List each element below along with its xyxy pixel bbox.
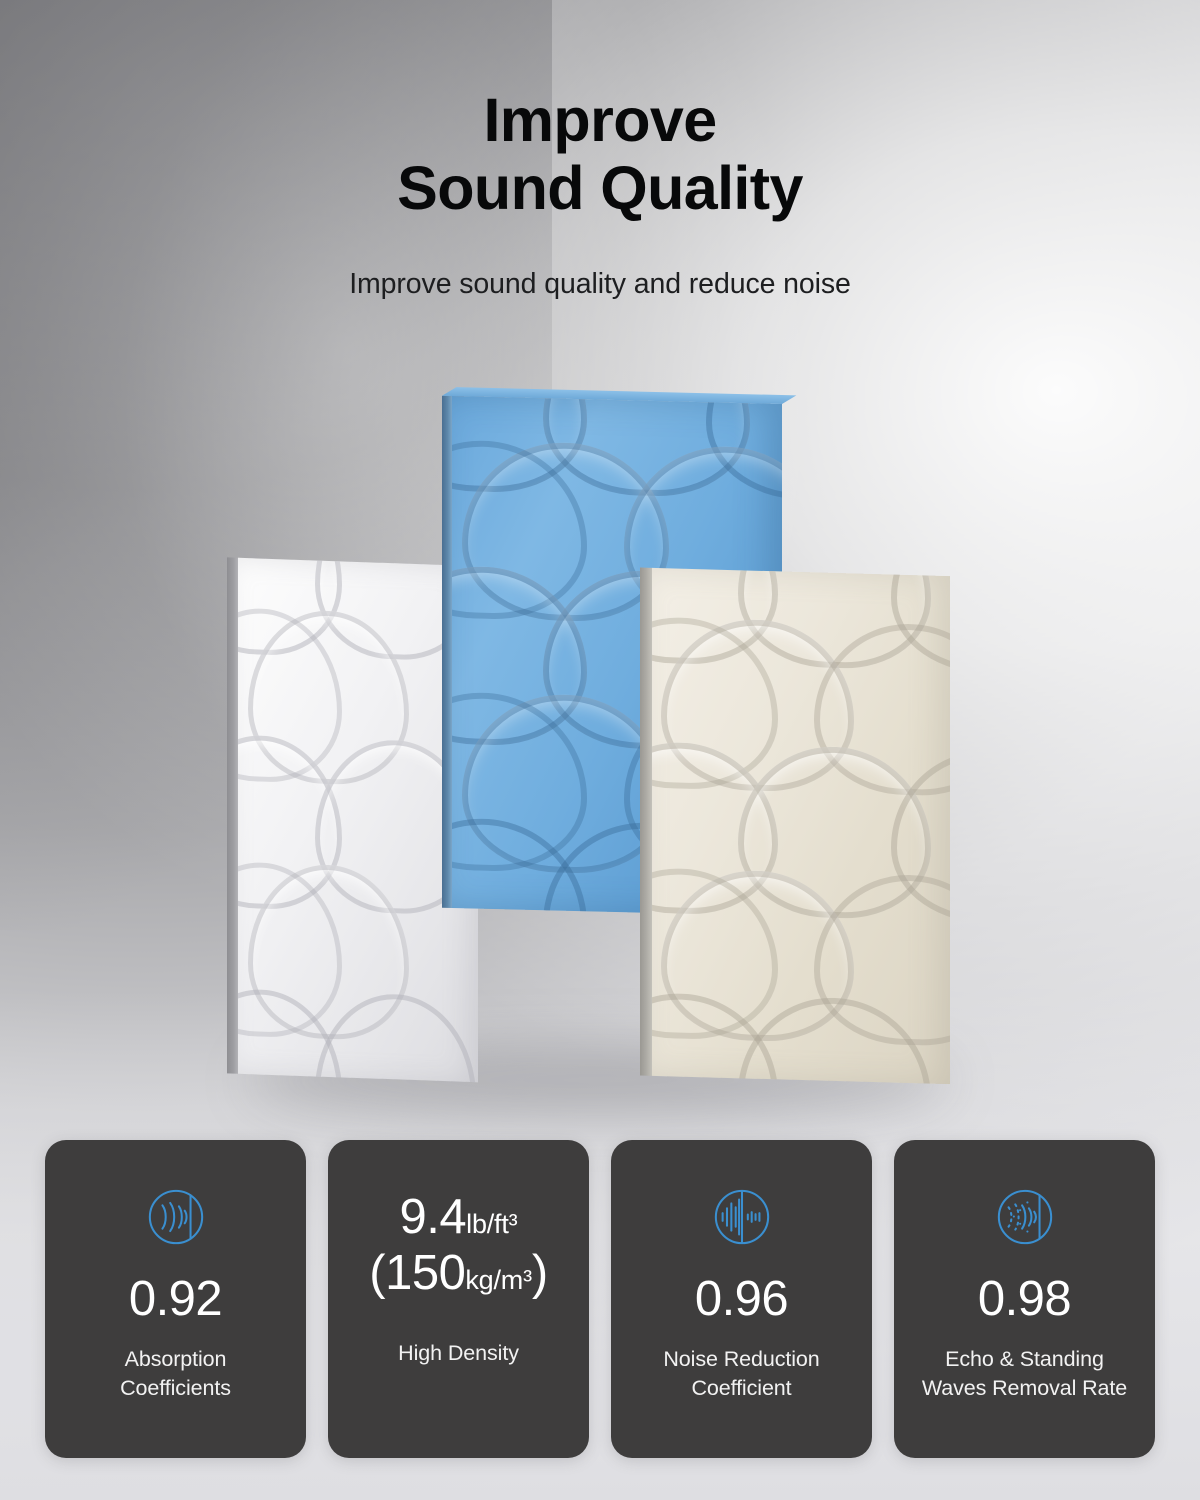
- card-label-line2: Coefficients: [120, 1376, 231, 1400]
- page-title: Improve Sound Quality: [0, 86, 1200, 223]
- beige-panel-pattern: [652, 568, 950, 1084]
- feature-card-noise-reduction: 0.96 Noise Reduction Coefficient: [611, 1140, 872, 1458]
- echo-removal-icon: [994, 1186, 1056, 1248]
- feature-card-density: 9.4lb/ft³ (150kg/m³) High Density: [328, 1140, 589, 1458]
- card-label-line2: Waves Removal Rate: [922, 1376, 1127, 1400]
- card-value-unit: lb/ft³: [466, 1209, 517, 1239]
- noise-reduction-icon: [711, 1186, 773, 1248]
- page-title-line2: Sound Quality: [397, 154, 803, 222]
- card-label-line1: Absorption: [125, 1347, 227, 1371]
- page-title-line1: Improve: [483, 86, 716, 154]
- card-label-line1: Echo & Standing: [945, 1347, 1104, 1371]
- card-value: 9.4lb/ft³ (150kg/m³): [369, 1192, 547, 1299]
- beige-panel-edge: [640, 568, 652, 1076]
- white-panel-edge: [227, 557, 238, 1073]
- header: Improve Sound Quality Improve sound qual…: [0, 86, 1200, 301]
- beige-panel: [652, 568, 950, 1084]
- card-label: Noise Reduction Coefficient: [663, 1345, 819, 1402]
- feature-card-echo-removal: 0.98 Echo & Standing Waves Removal Rate: [894, 1140, 1155, 1458]
- blue-panel-edge: [442, 396, 452, 908]
- page-subtitle: Improve sound quality and reduce noise: [0, 268, 1200, 301]
- card-value-secondary: (150kg/m³): [369, 1248, 547, 1299]
- feature-cards: 0.92 Absorption Coefficients 9.4lb/ft³ (…: [45, 1140, 1155, 1458]
- card-value-number: 9.4: [400, 1190, 467, 1244]
- sound-absorption-icon: [145, 1186, 207, 1248]
- card-value-secondary-close: ): [532, 1246, 548, 1300]
- card-label-line1: Noise Reduction: [663, 1347, 819, 1371]
- card-value-secondary-unit: kg/m³: [465, 1265, 532, 1295]
- card-label: Absorption Coefficients: [120, 1345, 231, 1402]
- card-value: 0.96: [695, 1274, 788, 1325]
- feature-card-absorption: 0.92 Absorption Coefficients: [45, 1140, 306, 1458]
- card-value: 0.92: [129, 1274, 222, 1325]
- card-value: 0.98: [978, 1274, 1071, 1325]
- card-label: High Density: [398, 1339, 519, 1368]
- card-value-secondary-number: (150: [369, 1246, 465, 1300]
- card-label: Echo & Standing Waves Removal Rate: [922, 1345, 1127, 1402]
- beige-panel-face: [652, 568, 950, 1084]
- card-label-line2: Coefficient: [691, 1376, 791, 1400]
